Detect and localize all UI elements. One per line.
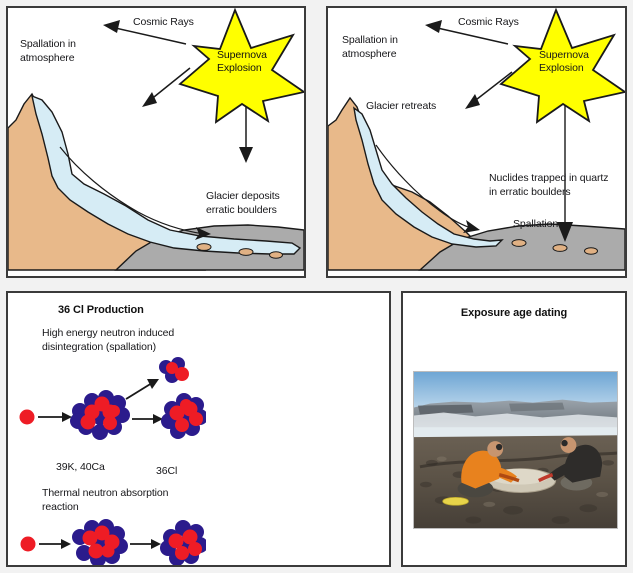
- label-spallation-line2: atmosphere: [342, 48, 396, 61]
- incoming-particle: [20, 410, 35, 425]
- cosmic-ray-arrow-head: [103, 20, 120, 33]
- erratic-boulder: [197, 244, 211, 251]
- reaction2-caption-line1: Thermal neutron absorption: [42, 487, 168, 500]
- incoming-particle: [21, 537, 36, 552]
- label-spallation-line1: Spallation in: [20, 38, 76, 51]
- product-nucleus-36Cl: [161, 393, 206, 439]
- cosmic-ray-arrow-shaft: [111, 27, 186, 44]
- panel-title-cl36-production: 36 Cl Production: [58, 304, 144, 316]
- figure-root: Cosmic Rays Spallation in atmosphere Sup…: [0, 0, 633, 573]
- label-spallation-line2: atmosphere: [20, 52, 74, 65]
- target-nucleus-35Cl: [72, 519, 128, 567]
- label-glacier-deposits-line2: erratic boulders: [206, 204, 277, 217]
- label-glacier-deposits-line1: Glacier deposits: [206, 190, 280, 203]
- erratic-boulder: [270, 252, 283, 258]
- panel-glacier-retreat: Cosmic Rays Spallation in atmosphere Sup…: [326, 6, 627, 278]
- cosmic-ray-arrow-head: [425, 20, 442, 33]
- reaction1-caption-line1: High energy neutron induced: [42, 327, 174, 340]
- reaction1-diagram: [14, 355, 206, 455]
- photo-field-equipment: [443, 497, 469, 505]
- reaction2-arrow2-head: [151, 539, 161, 549]
- reaction2-diagram: [14, 511, 206, 567]
- label-nuclides-line2: in erratic boulders: [489, 186, 571, 199]
- erratic-boulder: [585, 248, 598, 254]
- label-supernova-line2: Explosion: [217, 62, 262, 75]
- reaction1-target-label: 39K, 40Ca: [56, 461, 105, 474]
- vertical-ray-arrow-head: [239, 147, 253, 163]
- panel-exposure-age-dating: Exposure age dating: [401, 291, 627, 567]
- label-cosmic-rays: Cosmic Rays: [458, 16, 519, 29]
- ejected-fragment: [159, 357, 189, 383]
- label-spallation-ground: Spallation: [513, 218, 558, 231]
- target-nucleus-39K-40Ca: [70, 390, 130, 440]
- panel-glacier-advance: Cosmic Rays Spallation in atmosphere Sup…: [6, 6, 306, 278]
- product-nucleus-36Cl: [160, 520, 206, 566]
- diagonal-ray-arrow-shaft: [472, 72, 512, 103]
- label-nuclides-line1: Nuclides trapped in quartz: [489, 172, 608, 185]
- reaction1-caption-line2: disintegration (spallation): [42, 341, 156, 354]
- label-supernova-line1: Supernova: [539, 49, 589, 62]
- diagonal-ray-arrow-head: [465, 94, 480, 109]
- diagonal-ray-arrow-head: [142, 92, 157, 107]
- label-supernova-line2: Explosion: [539, 62, 584, 75]
- label-cosmic-rays: Cosmic Rays: [133, 16, 194, 29]
- label-glacier-retreats: Glacier retreats: [366, 100, 436, 113]
- field-photo: [413, 371, 618, 529]
- label-supernova-line1: Supernova: [217, 49, 267, 62]
- label-spallation-line1: Spallation in: [342, 34, 398, 47]
- reaction2-arrow1-head: [61, 539, 71, 549]
- panel-cl36-production: 36 Cl Production High energy neutron ind…: [6, 291, 391, 567]
- erratic-boulder: [553, 245, 567, 252]
- cosmic-ray-arrow-shaft: [433, 27, 508, 44]
- panel-title-exposure-age-dating: Exposure age dating: [403, 307, 625, 319]
- erratic-boulder: [512, 240, 526, 247]
- erratic-boulder: [239, 249, 253, 256]
- reaction1-product-label: 36Cl: [156, 465, 177, 478]
- reaction1-ejecta-arrow-shaft: [126, 383, 152, 399]
